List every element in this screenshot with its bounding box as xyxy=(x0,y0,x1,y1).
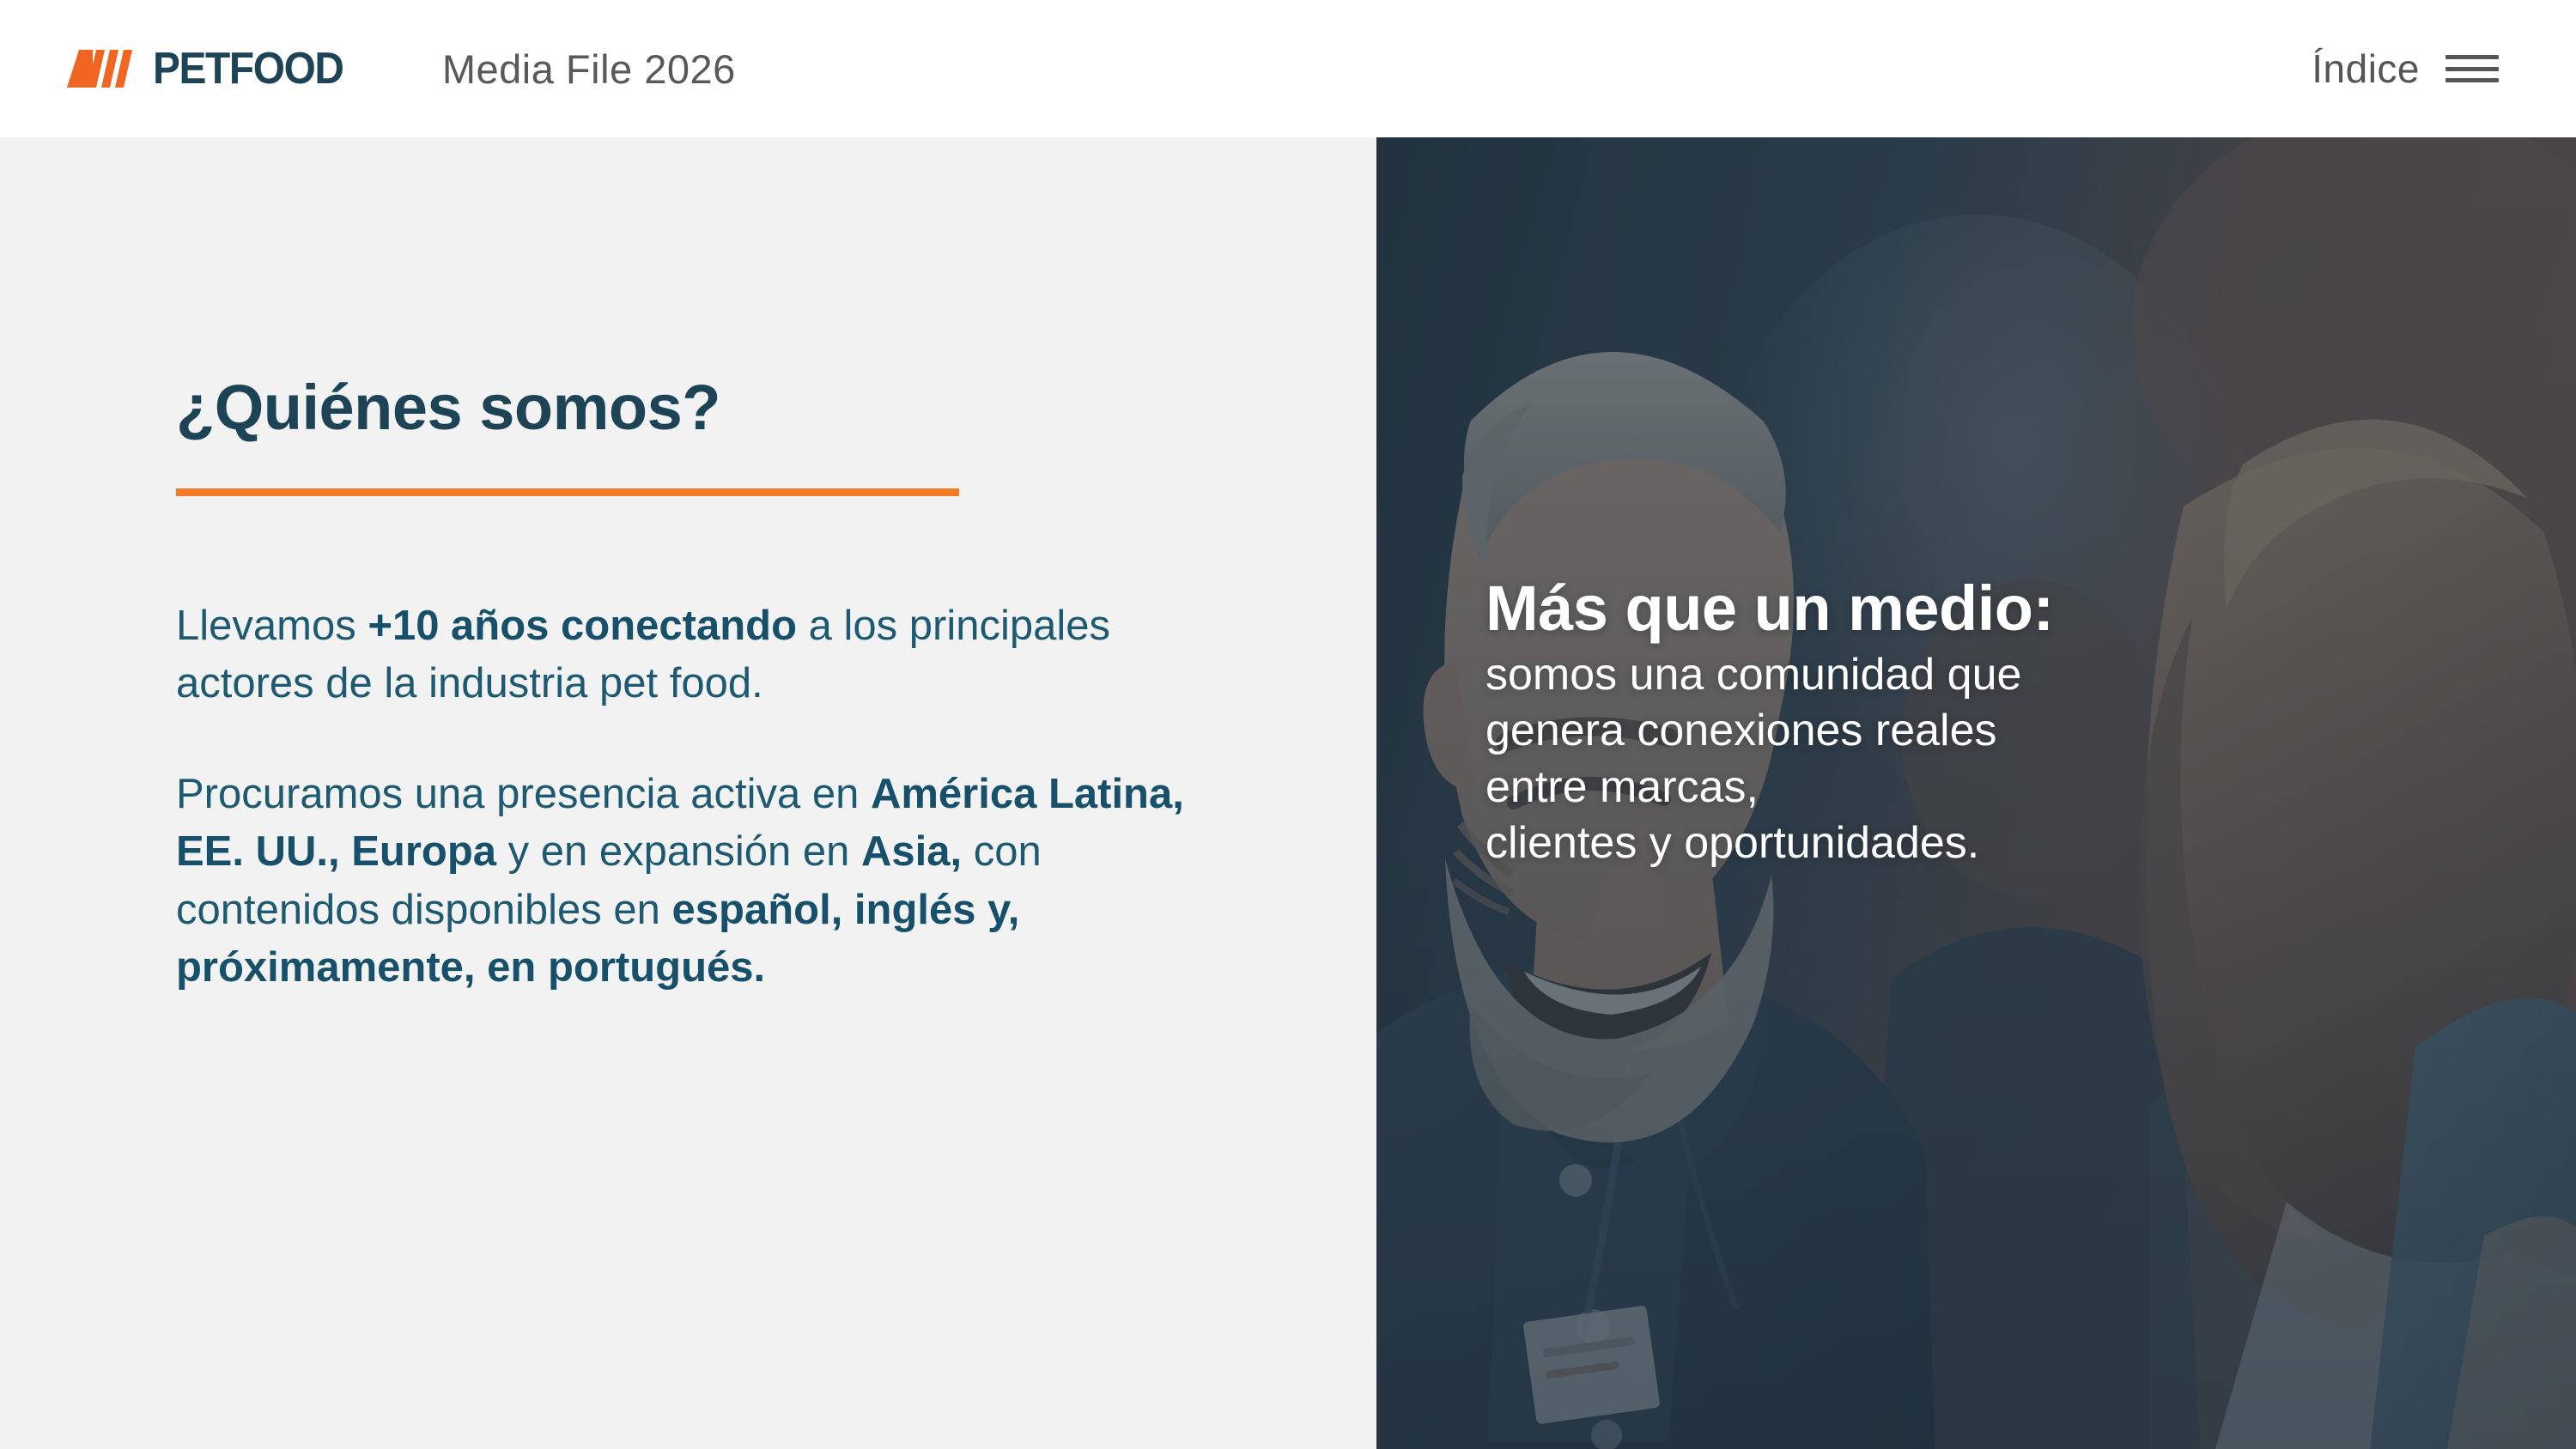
hero-overlay-line-4: clientes y oportunidades. xyxy=(1485,815,2499,872)
title-underline-rule xyxy=(176,488,959,496)
header-nav: Índice xyxy=(2312,45,2499,92)
hamburger-menu-icon[interactable] xyxy=(2445,55,2499,82)
logo-wordmark: PETFOOD xyxy=(153,46,343,91)
hero-overlay-line-2: genera conexiones reales xyxy=(1485,703,2499,760)
document-title: Media File 2026 xyxy=(442,49,736,89)
hero-overlay-subtitle: somos una comunidad quegenera conexiones… xyxy=(1485,647,2499,872)
slide-root: PETFOOD Media File 2026 Índice ¿Quiénes … xyxy=(0,0,2576,1449)
emphasis-text-1-2: +10 años conectando xyxy=(368,603,797,649)
emphasis-text-2-4: Asia, xyxy=(861,828,962,875)
page-header: PETFOOD Media File 2026 Índice xyxy=(0,0,2576,137)
body-copy: Llevamos +10 años conectando a los princ… xyxy=(176,597,1189,997)
brand-logo[interactable]: PETFOOD xyxy=(67,46,360,91)
plain-text-2-1: Procuramos una presencia activa en xyxy=(176,771,871,817)
hero-overlay-title: Más que un medio: xyxy=(1485,575,2499,642)
hero-overlay-line-1: somos una comunidad que xyxy=(1485,647,2499,704)
allpetfood-bars-icon xyxy=(67,48,149,89)
plain-text-1-1: Llevamos xyxy=(176,603,368,649)
left-content-panel: ¿Quiénes somos? Llevamos +10 años conect… xyxy=(0,137,1376,1449)
plain-text-2-3: y en expansión en xyxy=(496,828,861,875)
body-paragraph-2: Procuramos una presencia activa en Améri… xyxy=(176,766,1189,997)
hero-overlay-line-3: entre marcas, xyxy=(1485,760,2499,816)
hero-photo-panel: Más que un medio: somos una comunidad qu… xyxy=(1376,137,2576,1449)
hero-overlay-text: Más que un medio: somos una comunidad qu… xyxy=(1485,575,2499,872)
page-title: ¿Quiénes somos? xyxy=(176,376,720,440)
nav-index-link[interactable]: Índice xyxy=(2312,45,2420,92)
body-paragraph-1: Llevamos +10 años conectando a los princ… xyxy=(176,597,1189,712)
